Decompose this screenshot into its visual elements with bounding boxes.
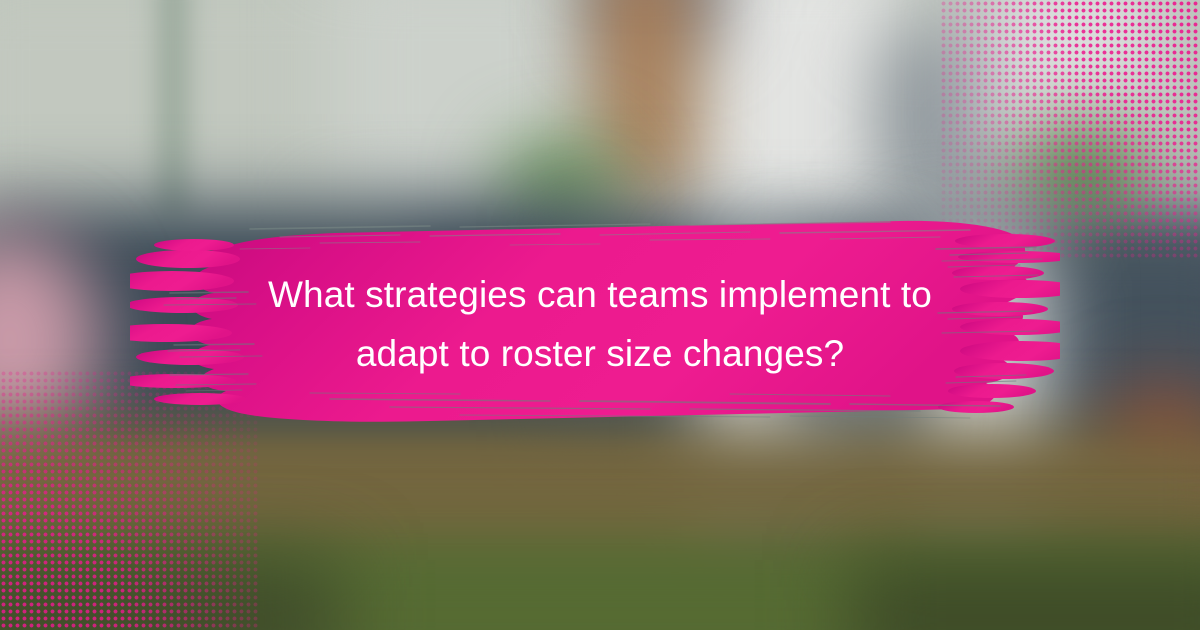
page-title: What strategies can teams implement to a… <box>200 265 1000 383</box>
bg-blur-dirt <box>0 430 1200 550</box>
bg-blur-grass-dark-right <box>850 560 1200 630</box>
bg-blur-grass-dark-left <box>0 560 340 630</box>
share-card: What strategies can teams implement to a… <box>0 0 1200 630</box>
